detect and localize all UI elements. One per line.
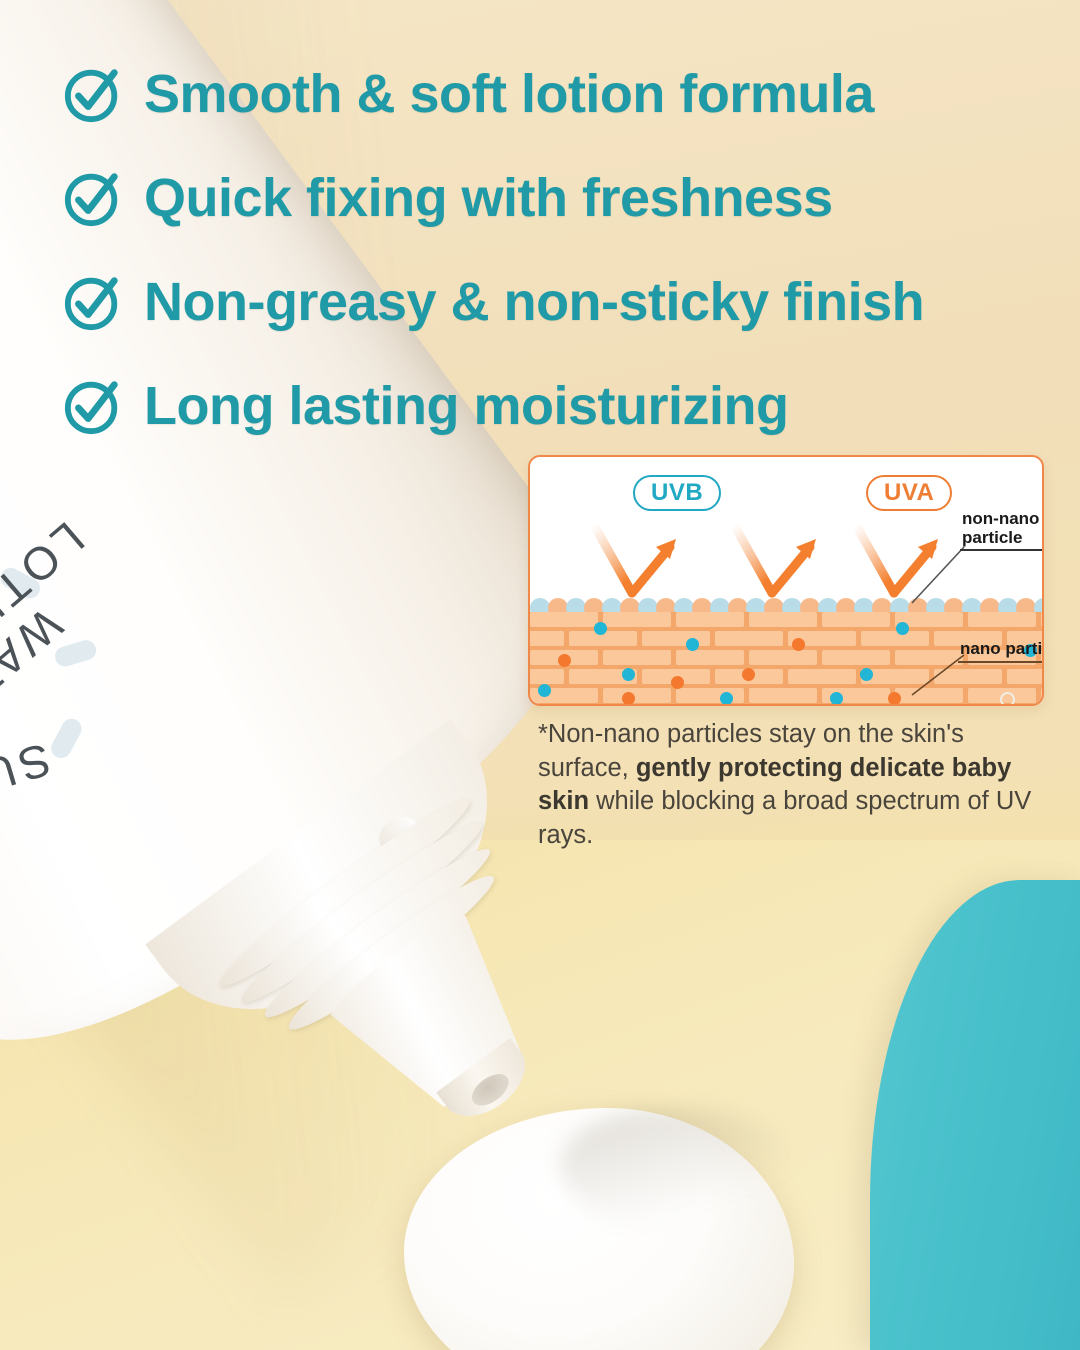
reflected-uv-ray-arrow-icon xyxy=(730,523,822,601)
uvb-badge: UVB xyxy=(633,475,721,511)
brick xyxy=(642,631,710,646)
uva-badge: UVA xyxy=(866,475,952,511)
brick xyxy=(749,688,817,703)
nano-particle xyxy=(686,638,699,651)
check-circle-icon xyxy=(62,375,124,437)
brick xyxy=(676,650,744,665)
check-circle-icon xyxy=(62,271,124,333)
nano-particle xyxy=(742,668,755,681)
nano-particle xyxy=(671,676,684,689)
brick xyxy=(1007,669,1044,684)
non-nano-label-rule xyxy=(960,549,1042,551)
brick xyxy=(749,650,817,665)
caption-part2: while xyxy=(589,787,654,815)
check-circle-icon xyxy=(62,63,124,125)
brick xyxy=(603,612,671,627)
nano-particle-outline xyxy=(1000,692,1015,706)
nano-particle xyxy=(896,622,909,635)
feature-label: Long lasting moisturizing xyxy=(144,379,788,433)
nano-particle xyxy=(720,692,733,705)
brick xyxy=(603,688,671,703)
nano-particle xyxy=(558,654,571,667)
feature-label: Smooth & soft lotion formula xyxy=(144,67,874,121)
nano-particle xyxy=(538,684,551,697)
brick xyxy=(749,612,817,627)
brick xyxy=(676,612,744,627)
list-item: Quick fixing with freshness xyxy=(62,146,1042,250)
brick xyxy=(715,631,783,646)
product-marketing-image: SUN WATERFUL LOTION Smooth & soft lotion… xyxy=(0,0,1080,1350)
brick xyxy=(1041,612,1044,627)
feature-label: Non-greasy & non-sticky finish xyxy=(144,275,924,329)
nano-leader-line xyxy=(902,653,968,699)
brick xyxy=(676,688,744,703)
nano-particle xyxy=(830,692,843,705)
brick xyxy=(968,612,1036,627)
brick xyxy=(528,669,564,684)
brick xyxy=(603,650,671,665)
diagram-caption: *Non-nano particles stay on the skin's s… xyxy=(538,718,1043,853)
list-item: Smooth & soft lotion formula xyxy=(62,42,1042,146)
brick xyxy=(822,650,890,665)
nano-particle xyxy=(622,692,635,705)
nano-particle xyxy=(860,668,873,681)
non-nano-particle-label: non-nano particle xyxy=(962,509,1044,547)
nano-label-rule xyxy=(958,661,1042,663)
brand-line-sun: SUN xyxy=(0,732,57,816)
nano-particle xyxy=(594,622,607,635)
uv-protection-diagram: UVB UVA xyxy=(528,455,1044,706)
nano-particle xyxy=(622,668,635,681)
list-item: Long lasting moisturizing xyxy=(62,354,1042,458)
nano-particle-label: nano particle xyxy=(960,639,1044,658)
nano-particle xyxy=(888,692,901,705)
non-nano-leader-line xyxy=(898,545,968,607)
check-circle-icon xyxy=(62,167,124,229)
feature-label: Quick fixing with freshness xyxy=(144,171,833,225)
brick xyxy=(530,612,598,627)
brick xyxy=(861,631,929,646)
feature-bullet-list: Smooth & soft lotion formula Quick fixin… xyxy=(62,42,1042,458)
reflected-uv-ray-arrow-icon xyxy=(590,523,682,601)
brick xyxy=(822,612,890,627)
nano-particle xyxy=(792,638,805,651)
list-item: Non-greasy & non-sticky finish xyxy=(62,250,1042,354)
brick xyxy=(528,631,564,646)
brick xyxy=(788,669,856,684)
